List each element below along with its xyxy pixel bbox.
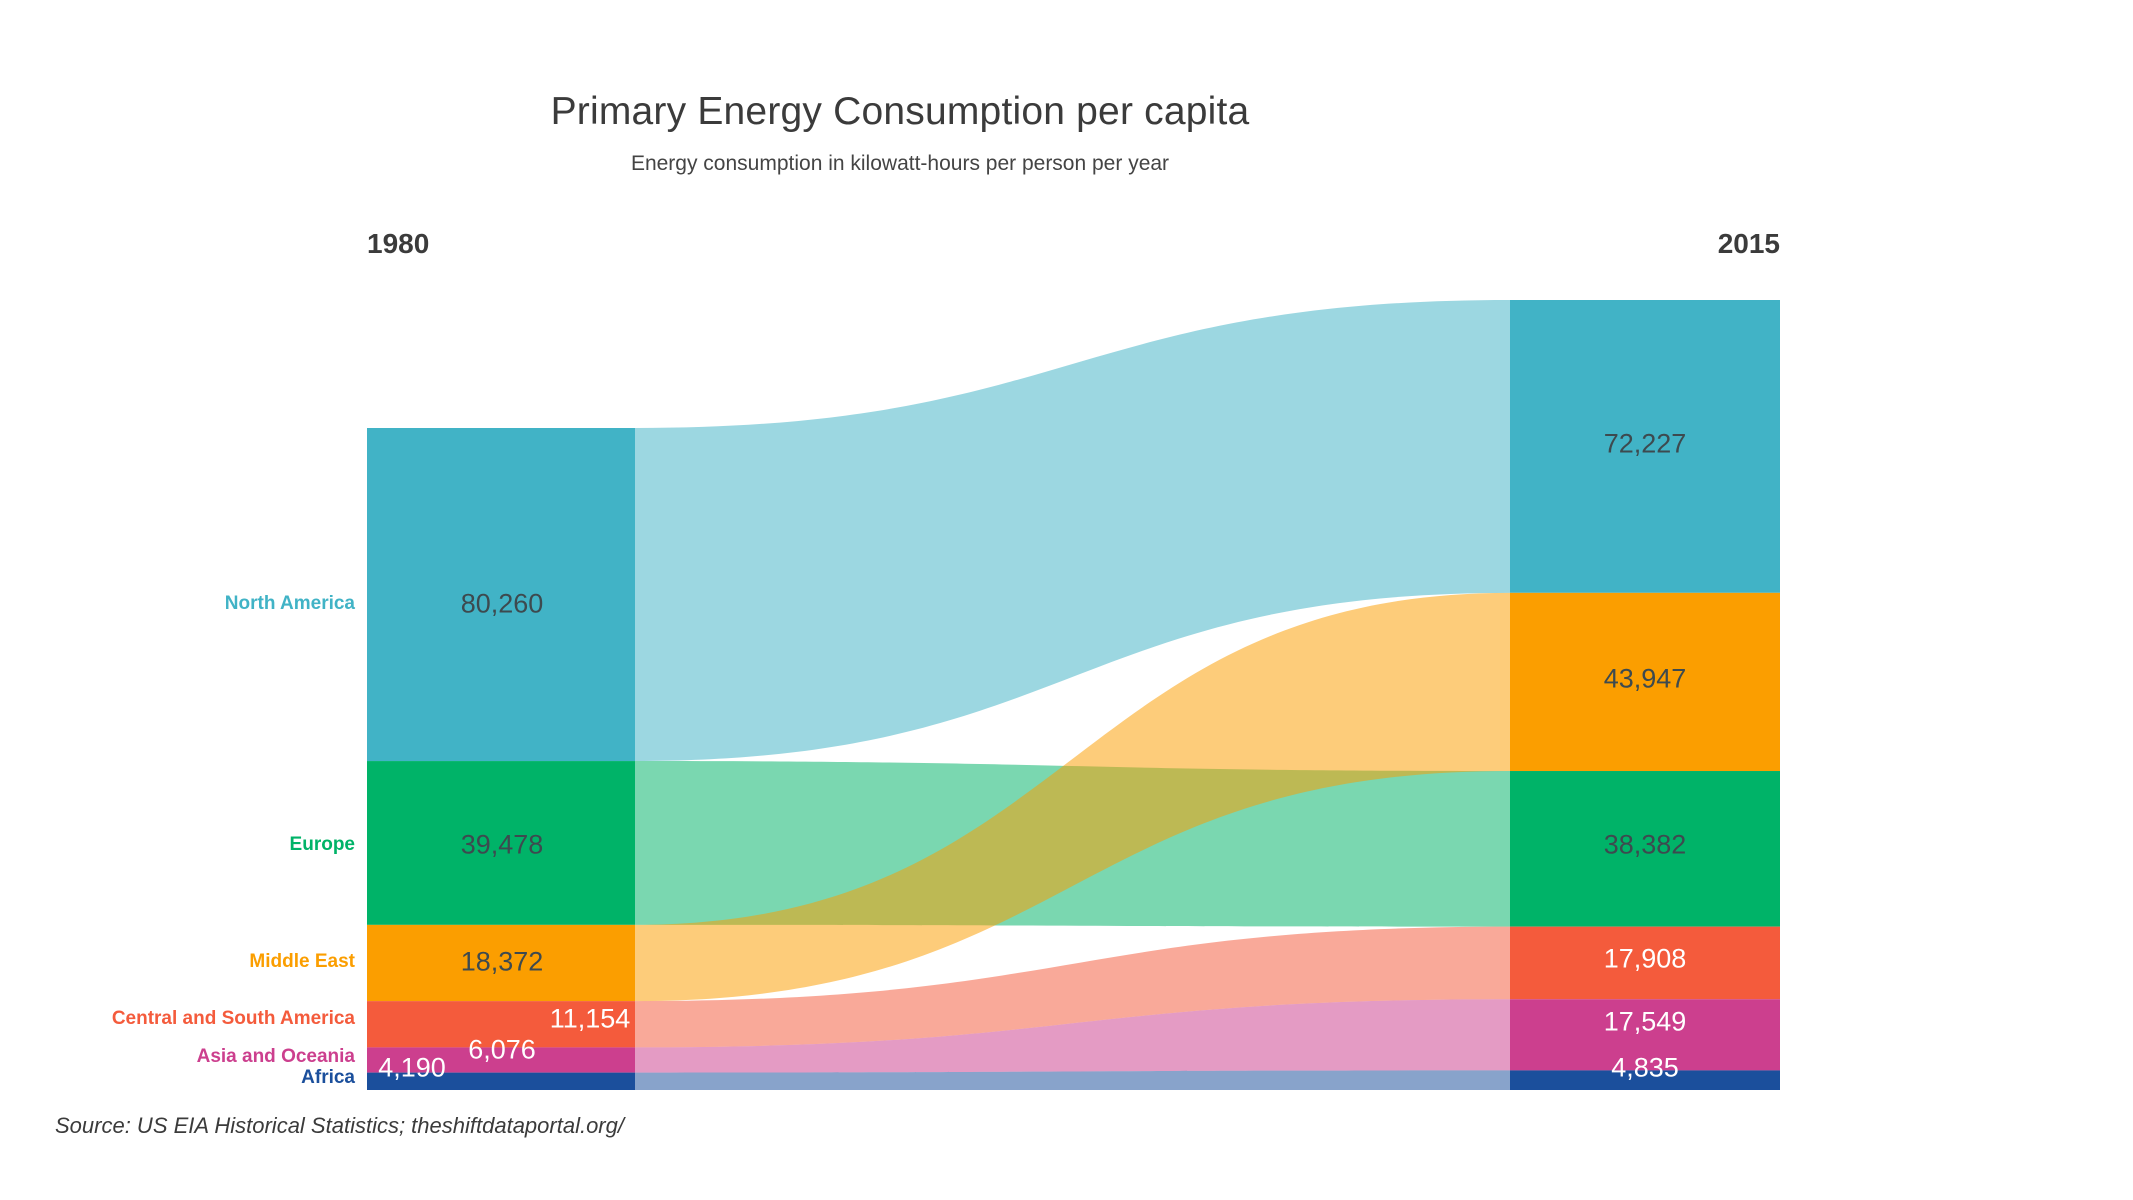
category-label-asia-and-oceania[interactable]: Asia and Oceania xyxy=(197,1046,355,1068)
sankey-node-left-europe[interactable] xyxy=(367,761,635,925)
sankey-node-right-middle-east[interactable] xyxy=(1510,593,1780,771)
sankey-node-right-europe[interactable] xyxy=(1510,771,1780,927)
sankey-node-left-africa[interactable] xyxy=(367,1073,635,1090)
chart-canvas: Primary Energy Consumption per capita En… xyxy=(0,0,2133,1200)
sankey-node-left-north-america[interactable] xyxy=(367,428,635,761)
category-label-north-america[interactable]: North America xyxy=(225,593,355,615)
sankey-node-right-north-america[interactable] xyxy=(1510,300,1780,593)
category-label-central-and-south-america[interactable]: Central and South America xyxy=(112,1008,355,1030)
sankey-node-right-central-and-south-america[interactable] xyxy=(1510,927,1780,1000)
category-label-middle-east[interactable]: Middle East xyxy=(249,951,355,973)
sankey-links xyxy=(635,300,1510,1090)
source-note: Source: US EIA Historical Statistics; th… xyxy=(55,1113,624,1139)
sankey-node-right-africa[interactable] xyxy=(1510,1070,1780,1090)
sankey-link-africa xyxy=(635,1070,1510,1090)
sankey-node-left-asia-and-oceania[interactable] xyxy=(367,1047,635,1072)
sankey-node-right-asia-and-oceania[interactable] xyxy=(1510,999,1780,1070)
sankey-node-left-middle-east[interactable] xyxy=(367,925,635,1001)
category-label-europe[interactable]: Europe xyxy=(290,834,355,856)
sankey-node-left-central-and-south-america[interactable] xyxy=(367,1001,635,1047)
category-label-africa[interactable]: Africa xyxy=(301,1067,355,1089)
